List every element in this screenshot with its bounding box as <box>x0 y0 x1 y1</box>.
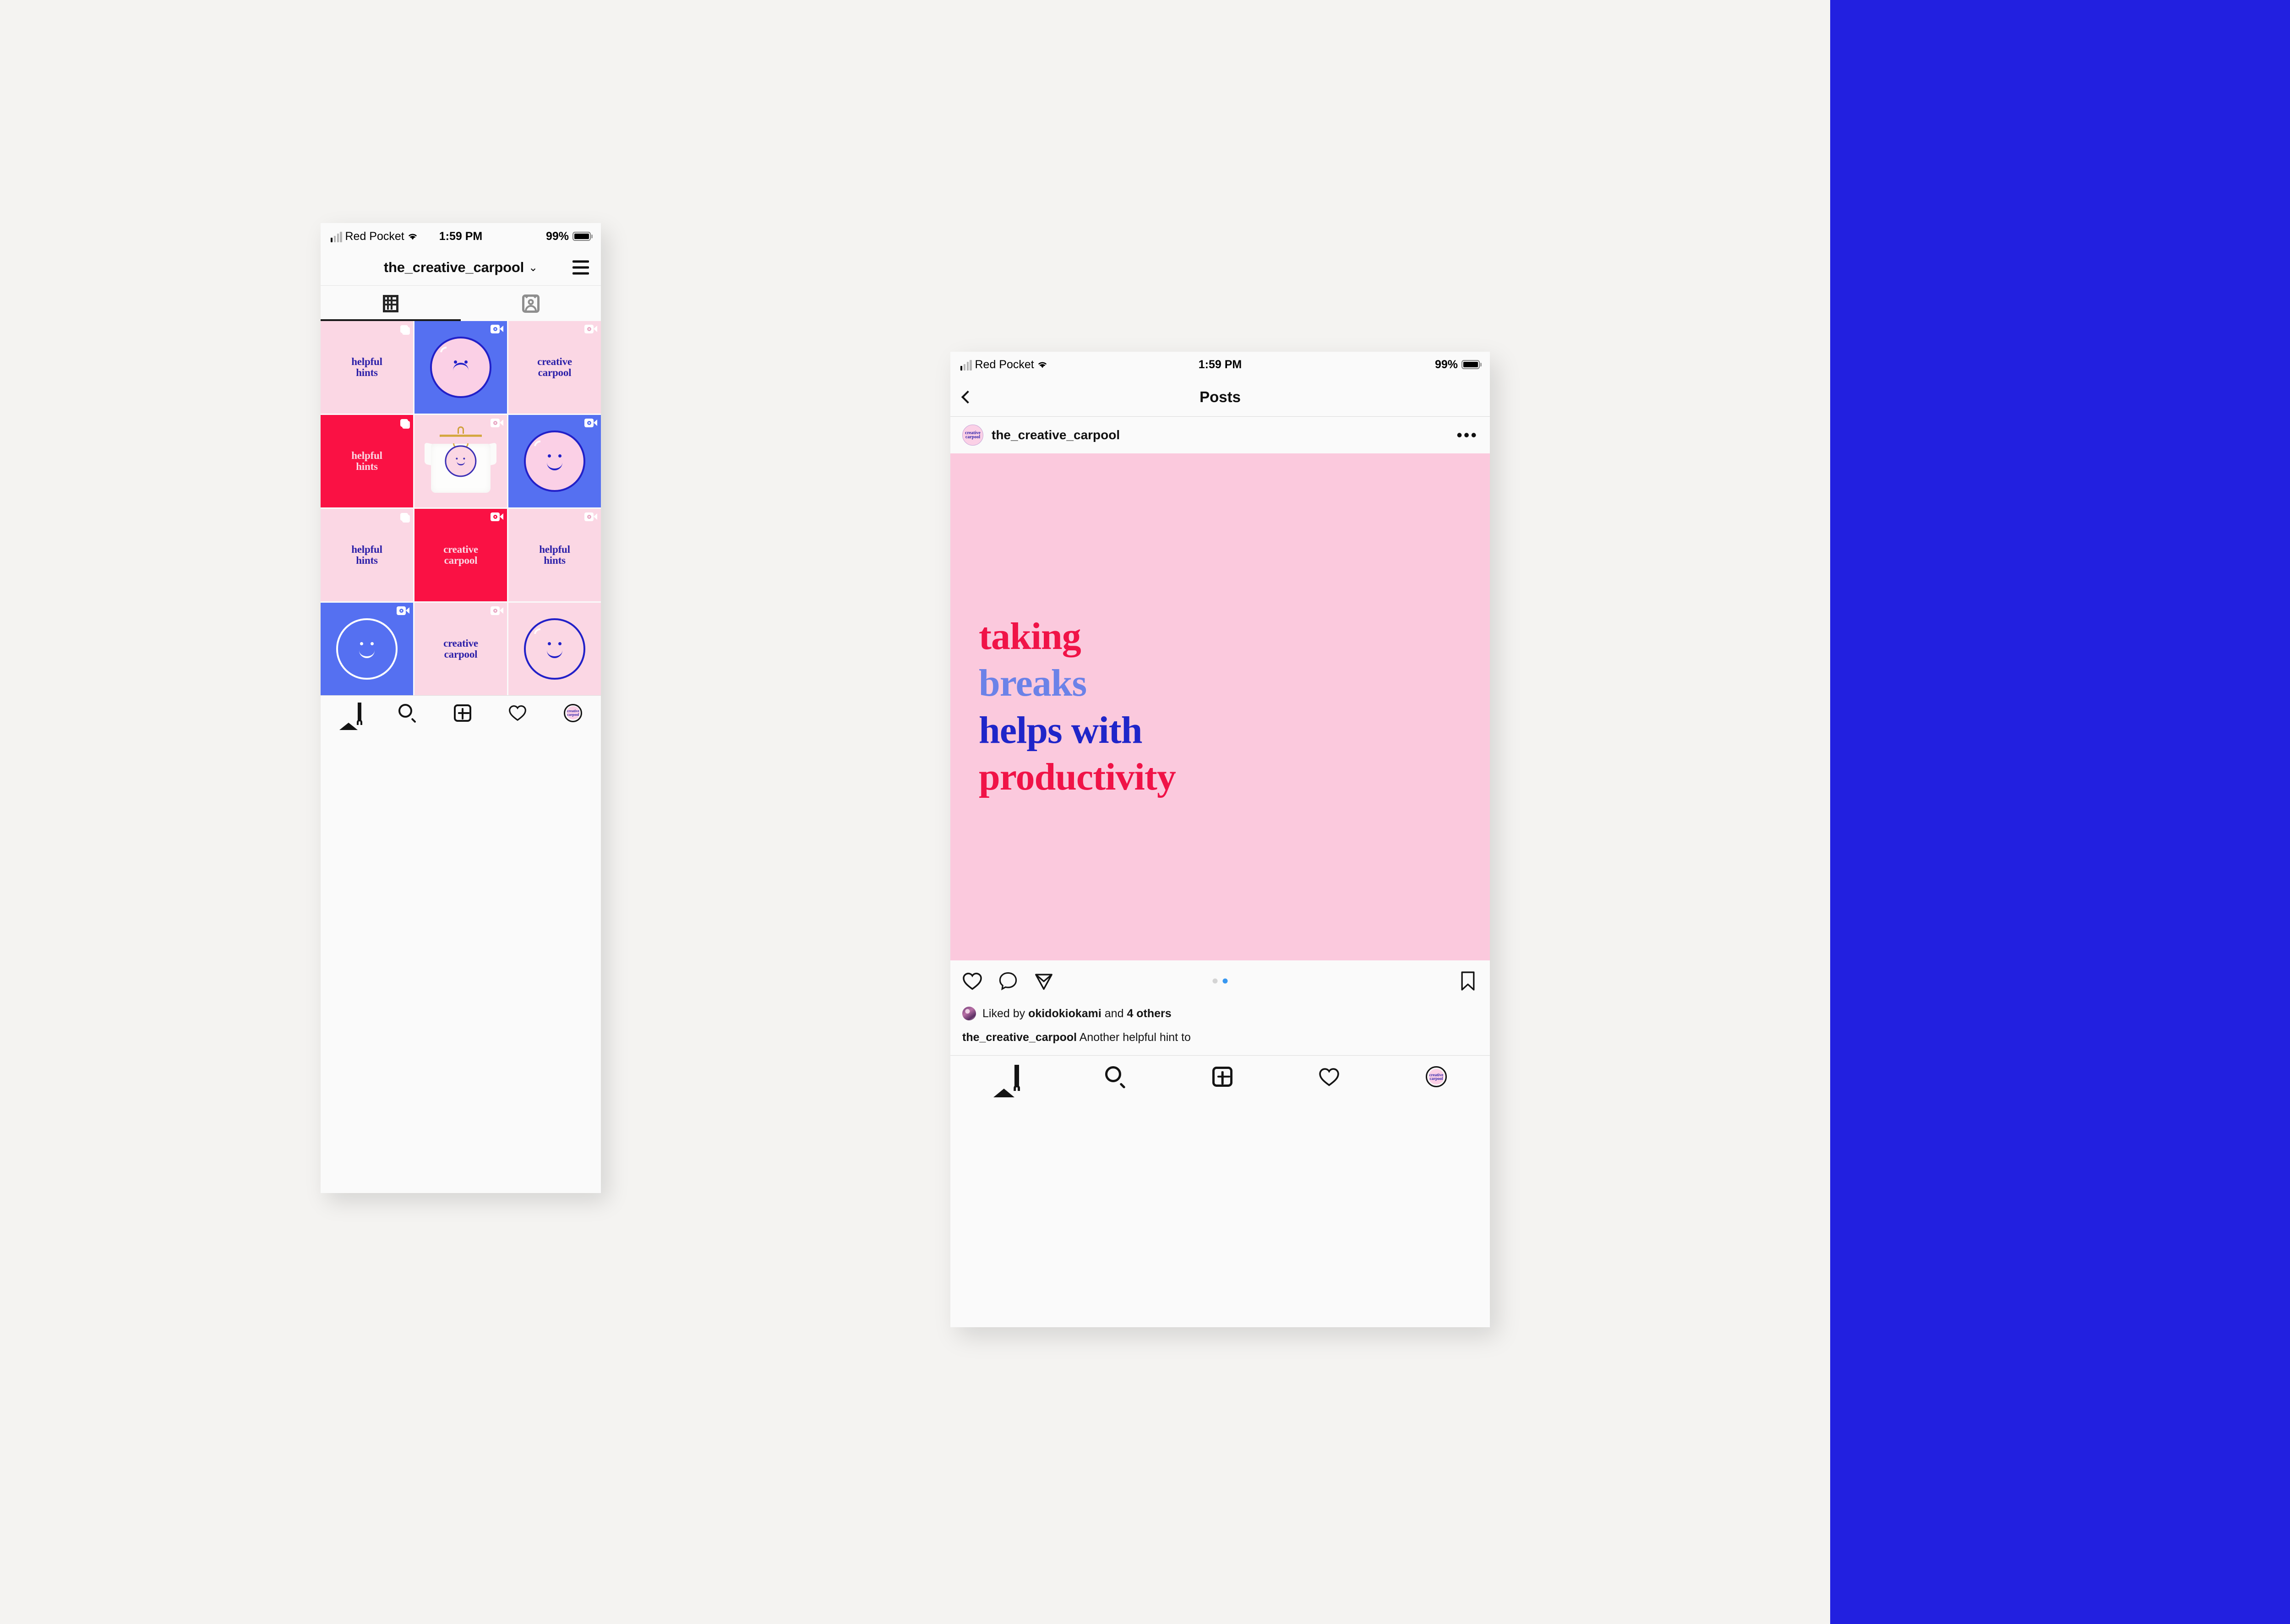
status-time: 1:59 PM <box>439 230 482 243</box>
hamburger-menu-icon[interactable] <box>572 261 589 275</box>
avatar-icon[interactable]: creative carpool <box>564 704 582 722</box>
status-left: Red Pocket <box>960 358 1047 371</box>
grid-tile[interactable] <box>414 415 507 507</box>
heart-icon[interactable] <box>508 704 527 721</box>
signal-bars-icon <box>331 231 342 242</box>
status-left: Red Pocket <box>331 230 418 243</box>
video-badge-icon <box>491 606 503 615</box>
post-media-line: breaks <box>979 660 1461 707</box>
bookmark-icon[interactable] <box>1458 971 1478 991</box>
post-media-line: taking <box>979 613 1461 660</box>
tile-caption: helpfulhints <box>351 544 382 566</box>
tab-tagged[interactable] <box>461 286 601 321</box>
status-bar: Red Pocket 1:59 PM 99% <box>321 223 601 250</box>
signal-bars-icon <box>960 359 972 371</box>
avatar-icon[interactable]: creative carpool <box>1426 1066 1447 1087</box>
grid-tile[interactable]: helpfulhints <box>321 321 413 414</box>
video-badge-icon <box>491 419 503 427</box>
post-action-bar <box>950 960 1490 1002</box>
video-badge-icon <box>584 325 597 333</box>
profile-tabs <box>321 285 601 321</box>
wifi-icon <box>408 230 418 243</box>
liker-avatar <box>962 1007 976 1020</box>
plus-square-icon[interactable] <box>1212 1067 1232 1087</box>
post-page-title: Posts <box>1200 388 1241 406</box>
tagged-person-icon <box>522 294 540 313</box>
wifi-icon <box>1037 358 1047 371</box>
post-media-line: productivity <box>979 754 1461 801</box>
status-right: 99% <box>546 230 591 243</box>
video-badge-icon <box>397 606 409 615</box>
heart-icon[interactable] <box>962 971 982 991</box>
avatar-label: creative carpool <box>1429 1069 1444 1084</box>
post-navbar: Posts <box>950 377 1490 417</box>
smiley-face-icon <box>524 431 585 491</box>
heart-icon[interactable] <box>1319 1067 1340 1086</box>
grid-tile[interactable] <box>414 321 507 414</box>
grid-tile[interactable]: helpfulhints <box>321 509 413 601</box>
phone-post-screen: Red Pocket 1:59 PM 99% Posts creative ca… <box>950 352 1490 1327</box>
carrier-label: Red Pocket <box>345 230 404 243</box>
likes-count[interactable]: 4 others <box>1127 1007 1171 1020</box>
profile-username[interactable]: the_creative_carpool <box>384 259 524 276</box>
grid-tile[interactable]: creativecarpool <box>508 321 601 414</box>
post-media[interactable]: takingbreakshelps withproductivity <box>950 453 1490 960</box>
tab-grid[interactable] <box>321 286 461 321</box>
carousel-dots <box>1213 979 1228 984</box>
video-badge-icon <box>491 512 503 521</box>
share-paperplane-icon[interactable] <box>1034 971 1054 991</box>
home-icon[interactable] <box>339 703 361 723</box>
back-chevron-icon[interactable] <box>961 390 974 403</box>
grid-icon <box>383 295 398 312</box>
grid-tile[interactable]: creativecarpool <box>414 509 507 601</box>
search-icon[interactable] <box>398 704 417 722</box>
grid-tile[interactable] <box>508 603 601 695</box>
carousel-dot <box>1213 979 1218 984</box>
tshirt-photo <box>425 425 497 497</box>
tile-caption: creativecarpool <box>537 356 572 378</box>
caption-username[interactable]: the_creative_carpool <box>962 1031 1077 1044</box>
avatar-label: creative carpool <box>963 431 983 440</box>
post-media-line: helps with <box>979 707 1461 754</box>
tile-caption: helpfulhints <box>351 356 382 378</box>
plus-square-icon[interactable] <box>454 704 471 722</box>
search-icon[interactable] <box>1105 1066 1126 1087</box>
carrier-label: Red Pocket <box>975 358 1034 371</box>
battery-percent: 99% <box>1435 358 1458 371</box>
method-panel <box>1830 0 2290 1624</box>
grid-tile[interactable]: creativecarpool <box>414 603 507 695</box>
video-badge-icon <box>584 419 597 427</box>
video-badge-icon <box>491 325 503 333</box>
smiley-face-icon <box>524 618 585 679</box>
smiley-face-icon <box>336 618 397 679</box>
content-spacer <box>950 1044 1490 1055</box>
battery-percent: 99% <box>546 230 569 243</box>
carousel-badge-icon <box>400 325 409 334</box>
caption-row: the_creative_carpool Another helpful hin… <box>950 1025 1490 1044</box>
carousel-badge-icon <box>400 419 409 428</box>
tile-caption: creativecarpool <box>443 544 478 566</box>
carousel-dot <box>1223 979 1228 984</box>
caption-text: Another helpful hint to <box>1077 1031 1191 1044</box>
avatar[interactable]: creative carpool <box>962 425 983 446</box>
phone-profile-screen: Red Pocket 1:59 PM 99% the_creative_carp… <box>321 223 601 1193</box>
avatar-label: creative carpool <box>567 706 579 719</box>
grid-tile[interactable] <box>321 603 413 695</box>
chevron-down-icon[interactable]: ⌄ <box>529 261 538 274</box>
video-badge-icon <box>584 512 597 521</box>
tile-caption: helpfulhints <box>351 450 382 472</box>
battery-icon <box>572 232 591 241</box>
tile-caption: helpfulhints <box>539 544 570 566</box>
status-right: 99% <box>1435 358 1480 371</box>
profile-navbar: the_creative_carpool ⌄ <box>321 250 601 285</box>
grid-tile[interactable]: helpfulhints <box>321 415 413 507</box>
post-author-name[interactable]: the_creative_carpool <box>992 428 1120 442</box>
more-options-icon[interactable]: ••• <box>1456 431 1478 439</box>
grid-tile[interactable] <box>508 415 601 507</box>
likes-username[interactable]: okidokiokami <box>1028 1007 1101 1020</box>
smiley-face-icon <box>430 337 491 398</box>
carousel-badge-icon <box>400 512 409 522</box>
post-header: creative carpool the_creative_carpool ••… <box>950 417 1490 453</box>
tile-caption: creativecarpool <box>443 638 478 660</box>
likes-text: Liked by okidokiokami and 4 others <box>982 1007 1172 1020</box>
likes-row: Liked by okidokiokami and 4 others <box>950 1002 1490 1025</box>
bottom-tabbar: creative carpool <box>950 1055 1490 1097</box>
profile-post-grid: helpfulhintscreativecarpoolhelpfulhintsh… <box>321 321 601 695</box>
status-bar: Red Pocket 1:59 PM 99% <box>950 352 1490 377</box>
home-icon[interactable] <box>993 1064 1019 1089</box>
comment-bubble-icon[interactable] <box>998 971 1018 991</box>
likes-middle: and <box>1101 1007 1127 1020</box>
likes-prefix: Liked by <box>982 1007 1028 1020</box>
bottom-tabbar: creative carpool <box>321 695 601 730</box>
battery-icon <box>1461 360 1480 370</box>
grid-tile[interactable]: helpfulhints <box>508 509 601 601</box>
status-time: 1:59 PM <box>1199 358 1242 371</box>
